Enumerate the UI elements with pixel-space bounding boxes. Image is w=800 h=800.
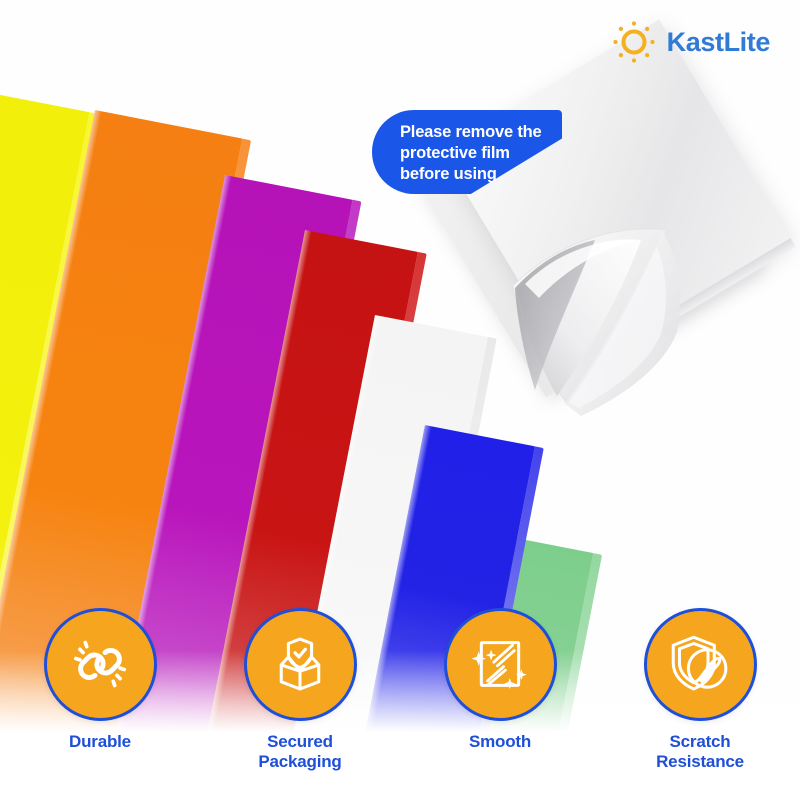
feature-label-line-1: Scratch — [656, 732, 744, 752]
brand-logo: KastLite — [610, 18, 770, 66]
feature-durable: Durable — [13, 608, 188, 752]
feature-label-smooth: Smooth — [469, 732, 531, 752]
callout-bubble: Please remove the protective film before… — [372, 110, 562, 194]
sparkle-panel-icon — [468, 632, 532, 696]
chain-link-icon — [68, 632, 132, 696]
product-image-canvas: Please remove the protective film before… — [0, 0, 800, 800]
callout-line-2: protective film — [400, 143, 556, 164]
badge-smooth — [444, 608, 557, 721]
callout-line-1: Please remove the — [400, 122, 556, 143]
badge-scratch-resistance — [644, 608, 757, 721]
feature-badge-row: Durable S — [0, 608, 800, 772]
feature-scratch-resistance: Scratch Resistance — [613, 608, 788, 772]
callout-line-3: before using — [400, 164, 556, 185]
callout-text: Please remove the protective film before… — [400, 122, 556, 185]
feature-label-durable: Durable — [69, 732, 131, 752]
feature-label-scratch-resistance: Scratch Resistance — [656, 732, 744, 772]
badge-durable — [44, 608, 157, 721]
feature-label-line-2: Packaging — [258, 752, 341, 772]
feature-label-secured-packaging: Secured Packaging — [258, 732, 341, 772]
feature-label-line-2: Resistance — [656, 752, 744, 772]
brand-name: KastLite — [667, 27, 770, 58]
sun-icon — [610, 18, 658, 66]
feature-label-line-1: Secured — [258, 732, 341, 752]
shield-box-icon — [267, 631, 333, 697]
feature-secured-packaging: Secured Packaging — [213, 608, 388, 772]
clear-acrylic-sheet-front — [441, 20, 791, 370]
shield-knife-icon — [667, 631, 733, 697]
feature-smooth: Smooth — [413, 608, 588, 752]
badge-secured-packaging — [244, 608, 357, 721]
clear-sheet-sidewall — [572, 238, 796, 378]
